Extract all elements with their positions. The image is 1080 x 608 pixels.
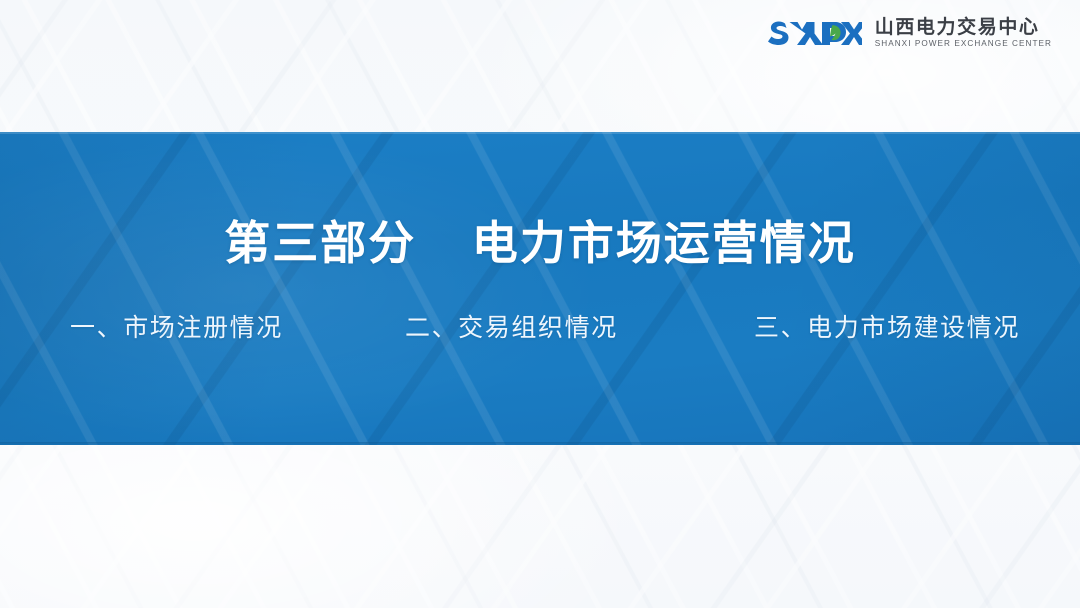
title-part-subject: 电力市场运营情况 (472, 217, 856, 269)
presentation-slide: 山西电力交易中心 SHANXI POWER EXCHANGE CENTER 第三… (0, 0, 1080, 608)
band-content: 第三部分 电力市场运营情况 一、市场注册情况 二、交易组织情况 三、电力市场建设… (0, 0, 1080, 608)
page-title: 第三部分 电力市场运营情况 (0, 218, 1080, 269)
section-item-3[interactable]: 三、电力市场建设情况 (754, 313, 1020, 343)
section-item-2[interactable]: 二、交易组织情况 (405, 313, 618, 343)
section-list: 一、市场注册情况 二、交易组织情况 三、电力市场建设情况 (56, 313, 1024, 343)
section-item-1[interactable]: 一、市场注册情况 (70, 313, 283, 343)
title-part-label: 第三部分 (224, 217, 416, 269)
